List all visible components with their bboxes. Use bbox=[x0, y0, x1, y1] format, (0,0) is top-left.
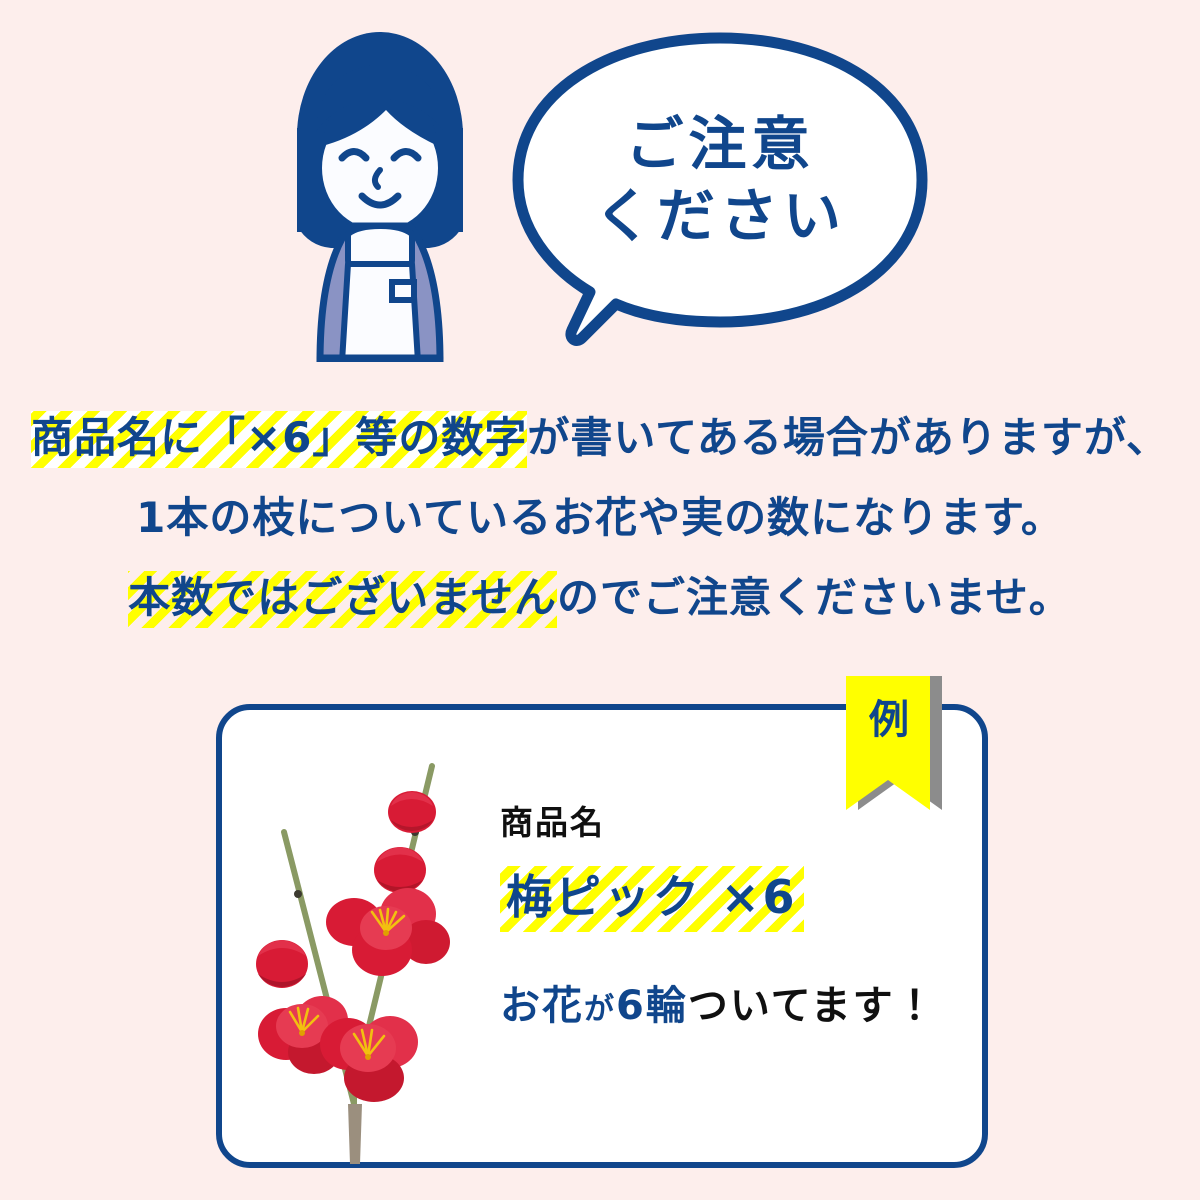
notice-line-2: 1本の枝についているお花や実の数になります。 bbox=[0, 478, 1200, 558]
shop-clerk-illustration bbox=[280, 28, 480, 362]
notice-line-1: 商品名に「×6」等の数字が書いてある場合がありますが、 bbox=[0, 398, 1200, 478]
speech-bubble bbox=[510, 30, 930, 360]
notice-message-block: 商品名に「×6」等の数字が書いてある場合がありますが、 1本の枝についているお花… bbox=[0, 398, 1200, 638]
notice-line-2-text: 1本の枝についているお花や実の数になります。 bbox=[136, 493, 1064, 542]
count-note-counter: 輪 bbox=[646, 983, 688, 1029]
notice-line-1-rest: が書いてある場合がありますが、 bbox=[527, 413, 1169, 462]
hero-section: ご注意 ください bbox=[0, 0, 1200, 382]
count-note-part-1: お花 bbox=[500, 983, 584, 1029]
notice-line-1-highlight: 商品名に「×6」等の数字 bbox=[31, 411, 527, 468]
count-note-suffix: ついてます！ bbox=[688, 983, 937, 1029]
product-name-value: 梅ピック ×6 bbox=[500, 866, 804, 932]
notice-line-3-highlight: 本数ではございません bbox=[128, 571, 557, 628]
plum-flower-open-3 bbox=[320, 1016, 418, 1102]
plum-bud-1 bbox=[388, 791, 436, 833]
count-note-number: 6 bbox=[616, 983, 646, 1029]
count-note-particle: が bbox=[584, 992, 616, 1027]
notice-line-3: 本数ではございませんのでご注意くださいませ。 bbox=[0, 558, 1200, 638]
product-name-label: 商品名 bbox=[500, 806, 970, 839]
product-name-row: 梅ピック ×6 bbox=[500, 859, 970, 946]
flower-count-note: お花が6輪ついてます！ bbox=[500, 984, 970, 1028]
example-ribbon bbox=[846, 676, 942, 810]
notice-line-3-rest: のでご注意くださいませ。 bbox=[557, 573, 1072, 622]
notice-graphic: ご注意 ください 商品名に「×6」等の数字が書いてある場合がありますが、 1本の… bbox=[0, 0, 1200, 1200]
plum-blossom-branch-illustration bbox=[236, 736, 476, 1166]
plum-bud-2 bbox=[374, 847, 426, 893]
plum-flower-open-1 bbox=[326, 888, 450, 976]
plum-bud-3 bbox=[256, 940, 308, 988]
example-card-text: 商品名 梅ピック ×6 お花が6輪ついてます！ bbox=[500, 806, 970, 1028]
